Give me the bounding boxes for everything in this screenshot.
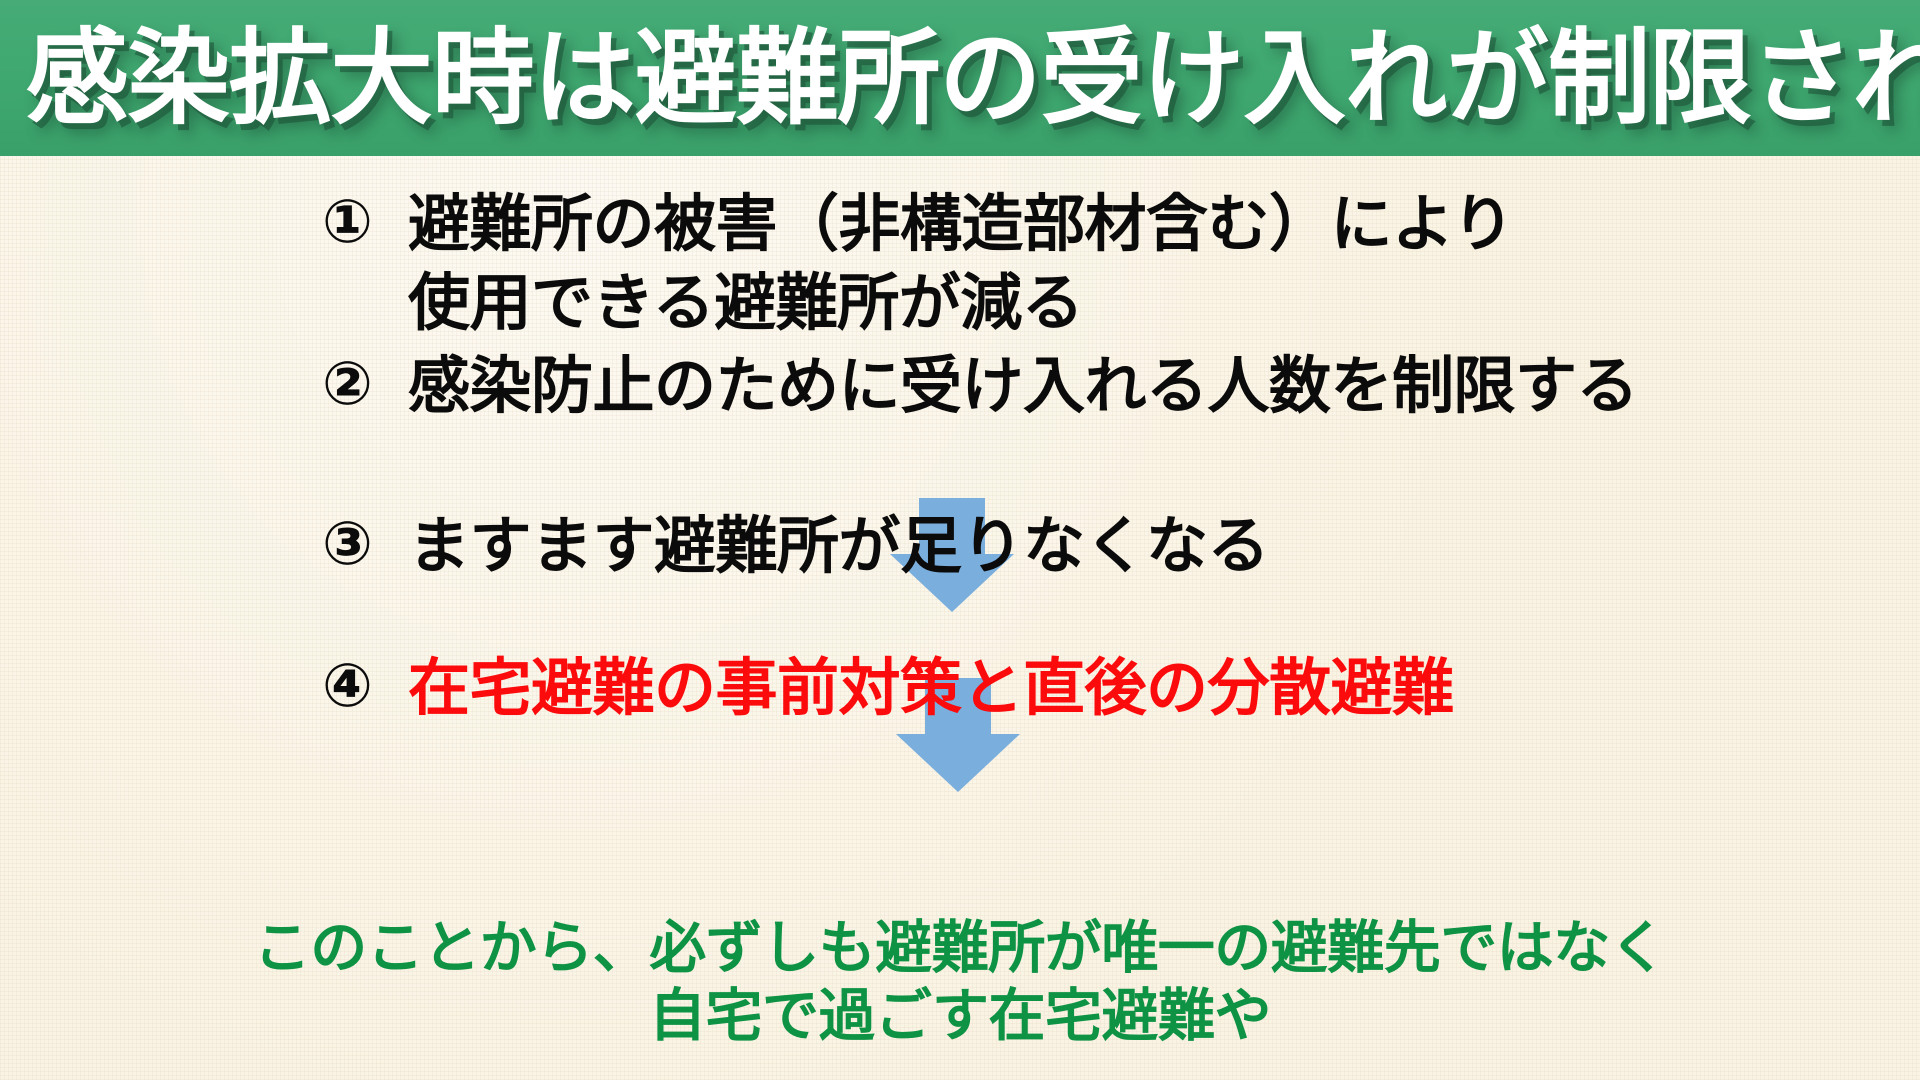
conclusion-text: このことから、必ずしも避難所が唯一の避難先ではなく 自宅で過ごす在宅避難や [0, 917, 1920, 1049]
slide-canvas: 感染拡大時は避難所の受け入れが制限される ① 避難所の被害（非構造部材含む）によ… [0, 0, 1920, 1080]
list-item: ③ ますます避難所が足りなくなる [322, 506, 1269, 585]
list-item-line: 感染防止のために受け入れる人数を制限する [408, 346, 1638, 425]
list-item: ① 避難所の被害（非構造部材含む）により 使用できる避難所が減る [322, 184, 1514, 343]
list-item-line: 避難所の被害（非構造部材含む）により [408, 184, 1514, 263]
title-banner: 感染拡大時は避難所の受け入れが制限される [0, 0, 1920, 156]
conclusion-line-1: このことから、必ずしも避難所が唯一の避難先ではなく [0, 917, 1920, 981]
list-item-text: ますます避難所が足りなくなる [408, 506, 1269, 585]
list-item-text: 避難所の被害（非構造部材含む）により 使用できる避難所が減る [408, 184, 1514, 343]
list-marker: ① [322, 184, 408, 261]
list-marker: ② [322, 346, 408, 423]
arrow-head [896, 734, 1020, 792]
list-marker: ③ [322, 506, 408, 583]
list-item-text: 在宅避難の事前対策と直後の分散避難 [408, 648, 1454, 727]
list-marker: ④ [322, 648, 408, 725]
body-content: ① 避難所の被害（非構造部材含む）により 使用できる避難所が減る ② 感染防止の… [0, 156, 1920, 1080]
conclusion-line-2: 自宅で過ごす在宅避難や [0, 985, 1920, 1049]
list-item-text: 感染防止のために受け入れる人数を制限する [408, 346, 1638, 425]
page-title: 感染拡大時は避難所の受け入れが制限される [26, 26, 1920, 130]
list-item: ④ 在宅避難の事前対策と直後の分散避難 [322, 648, 1454, 727]
list-item-line-highlight: 在宅避難の事前対策と直後の分散避難 [408, 648, 1454, 727]
list-item-line: ますます避難所が足りなくなる [408, 506, 1269, 585]
list-item: ② 感染防止のために受け入れる人数を制限する [322, 346, 1638, 425]
list-item-line: 使用できる避難所が減る [408, 263, 1514, 342]
